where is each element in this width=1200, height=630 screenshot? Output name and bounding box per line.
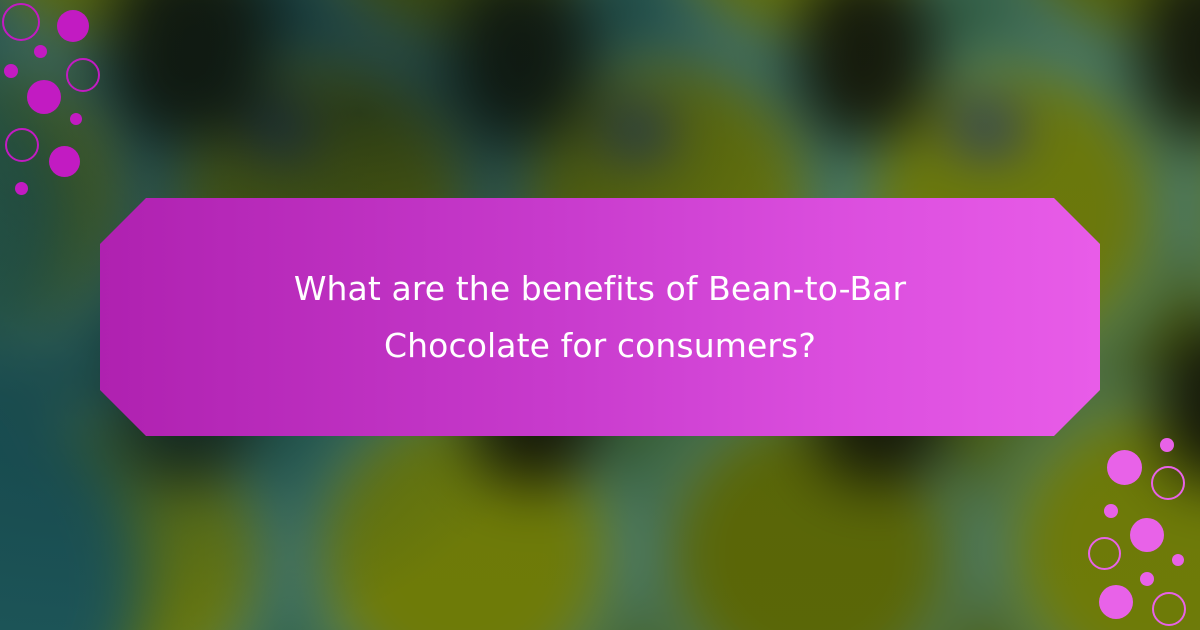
decorative-circle-dot-tiny-b: [1172, 554, 1184, 566]
decorative-circle-dot-large-b: [27, 80, 61, 114]
decorative-circles-bottom-right: [1060, 430, 1200, 630]
page-title: What are the benefits of Bean-to-Bar Cho…: [220, 260, 980, 374]
decorative-circle-ring-small: [1152, 592, 1186, 626]
decorative-circle-dot-small-b: [1140, 572, 1154, 586]
decorative-circle-ring-small: [5, 128, 39, 162]
headline-banner: What are the benefits of Bean-to-Bar Cho…: [100, 198, 1100, 436]
decorative-circle-dot-tiny-a: [1160, 438, 1174, 452]
decorative-circle-ring-large: [1151, 466, 1185, 500]
decorative-circle-dot-tiny-b: [15, 182, 28, 195]
decorative-circle-dot-large-b: [1130, 518, 1164, 552]
decorative-circle-dot-large-a: [57, 10, 89, 42]
decorative-circle-dot-large-a: [1107, 450, 1142, 485]
decorative-circle-ring-mid: [1088, 537, 1121, 570]
decorative-circle-dot-large-c: [1099, 585, 1133, 619]
decorative-circle-dot-large-c: [49, 146, 80, 177]
decorative-circle-ring-large: [2, 3, 40, 41]
social-card: What are the benefits of Bean-to-Bar Cho…: [0, 0, 1200, 630]
decorative-circle-dot-small-a: [34, 45, 47, 58]
decorative-circle-dot-small-a: [1104, 504, 1118, 518]
decorative-circle-ring-mid: [66, 58, 100, 92]
decorative-circles-top-left: [0, 0, 120, 210]
decorative-circle-dot-tiny-a: [70, 113, 82, 125]
decorative-circle-dot-small-b: [4, 64, 18, 78]
